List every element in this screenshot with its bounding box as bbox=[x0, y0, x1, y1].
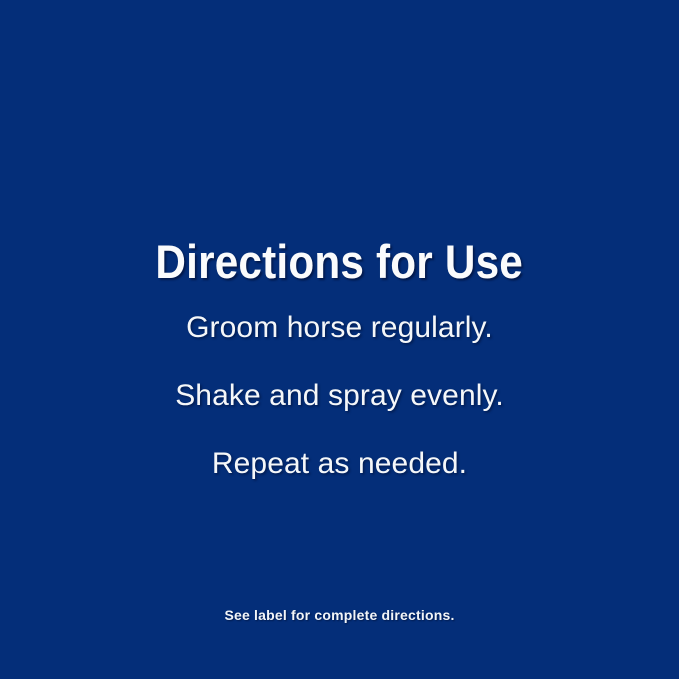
list-item: Repeat as needed. bbox=[0, 430, 679, 498]
label-disclaimer-text: See label for complete directions. bbox=[224, 606, 454, 624]
list-item: Groom horse regularly. bbox=[0, 294, 679, 362]
list-item: Shake and spray evenly. bbox=[0, 362, 679, 430]
directions-poster: Directions for Use Groom horse regularly… bbox=[0, 0, 679, 679]
footnote-container: See label for complete directions. bbox=[0, 606, 679, 625]
page-title: Directions for Use bbox=[156, 237, 524, 287]
instruction-steps-list: Groom horse regularly. Shake and spray e… bbox=[0, 294, 679, 498]
